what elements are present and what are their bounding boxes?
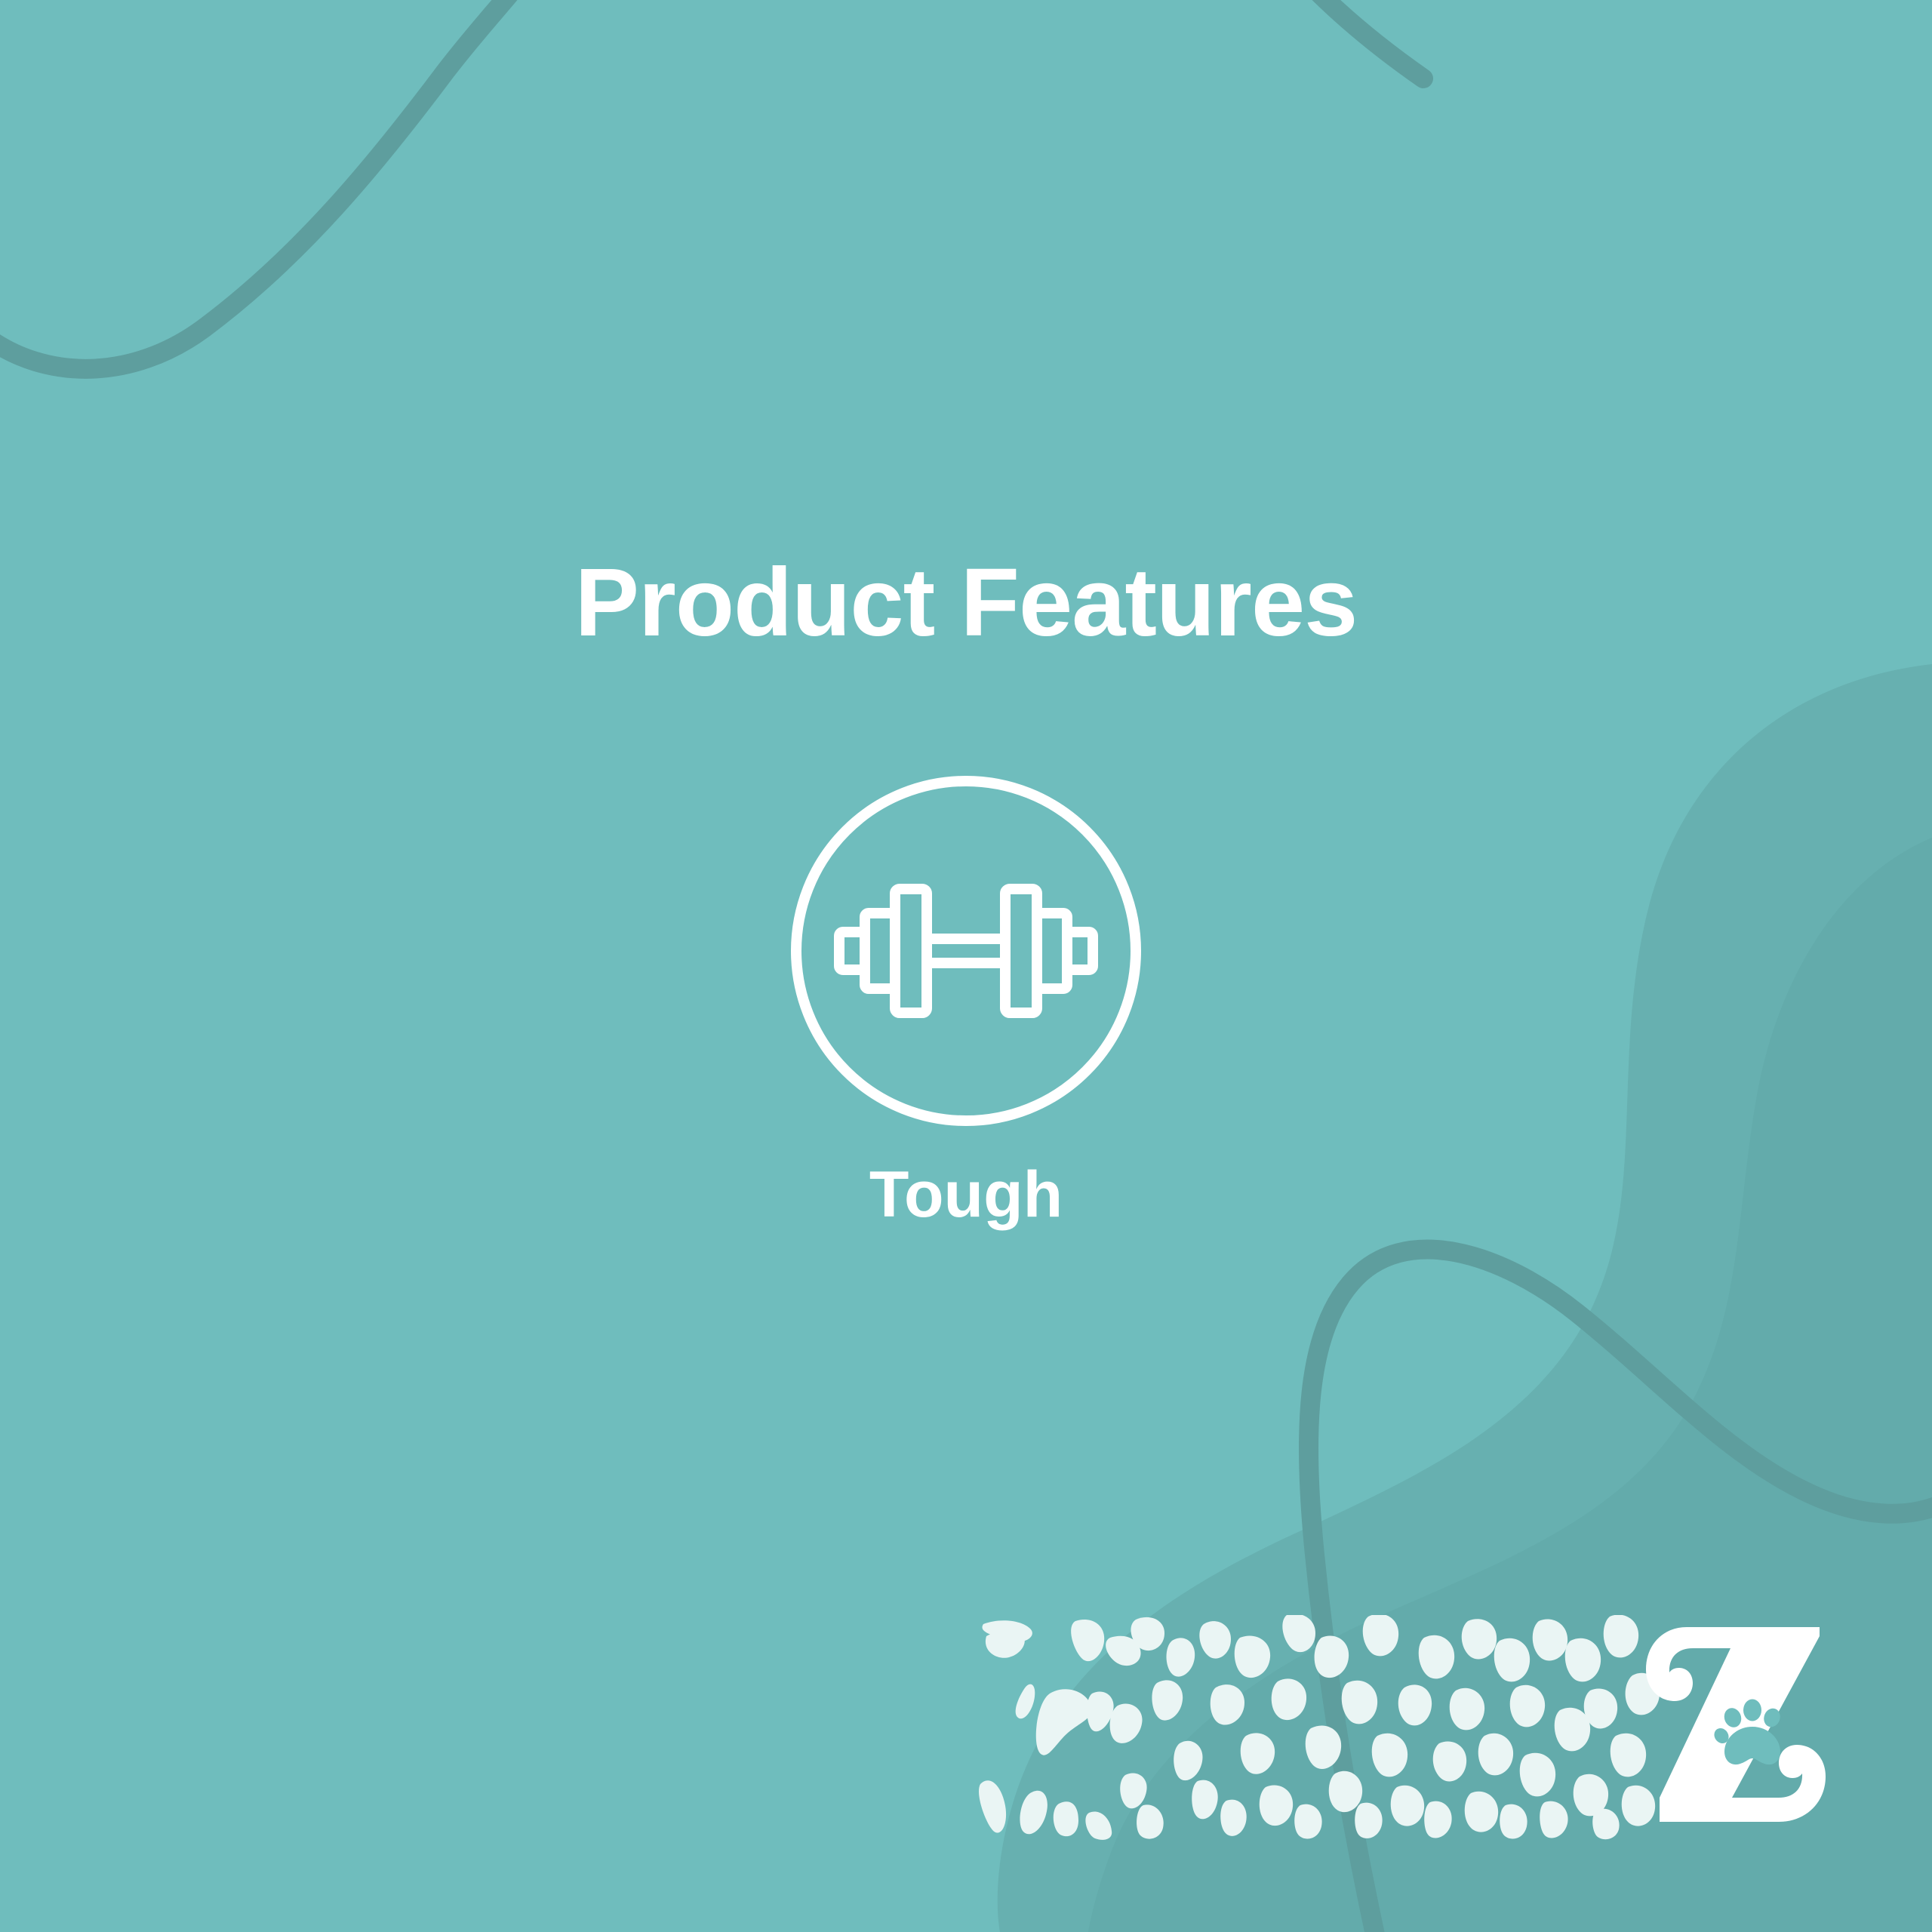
page-title: Product Features bbox=[0, 555, 1932, 651]
feature-label: Tough bbox=[869, 1162, 1063, 1227]
terrazzo-shapes bbox=[979, 1615, 1660, 1840]
card-content: Product Features bbox=[0, 0, 1932, 1932]
social-card: Product Features bbox=[0, 0, 1932, 1932]
dumbbell-icon bbox=[785, 770, 1147, 1132]
terrazzo-confetti-band bbox=[977, 1615, 1660, 1841]
icon-ring bbox=[796, 781, 1136, 1121]
feature-block: Tough bbox=[785, 770, 1147, 1227]
z-paw-logo bbox=[1641, 1621, 1838, 1832]
dumbbell-glyph bbox=[839, 889, 1093, 1013]
feature-icon-wrap bbox=[785, 770, 1147, 1132]
